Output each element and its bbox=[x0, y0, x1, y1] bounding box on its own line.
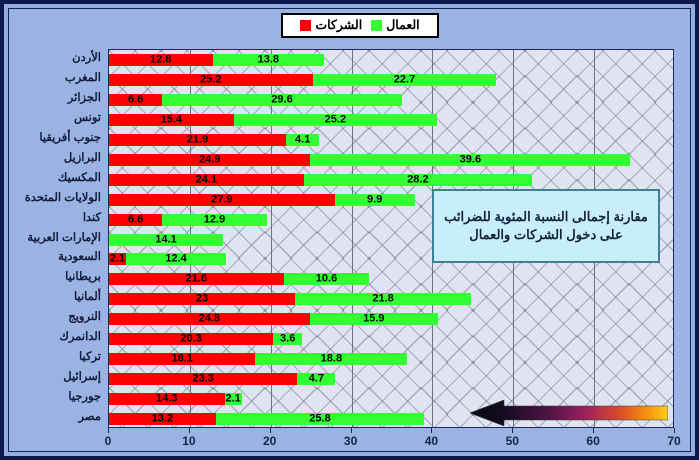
bar-row: 20.33.6 bbox=[109, 333, 673, 345]
category-label: المغرب bbox=[65, 73, 101, 85]
bar-row: 12.813.8 bbox=[109, 54, 673, 66]
x-axis-tick bbox=[351, 428, 352, 433]
category-label: الولايات المتحدة bbox=[25, 193, 101, 205]
bar-segment-workers[interactable] bbox=[273, 333, 302, 345]
category-label: تونس bbox=[74, 113, 101, 125]
legend-item-label: الشركات bbox=[315, 19, 362, 32]
category-label: السعودية bbox=[58, 252, 101, 264]
category-label: إسرائيل bbox=[63, 372, 101, 384]
bar-row: 24.939.6 bbox=[109, 154, 673, 166]
bar-segment-companies[interactable] bbox=[109, 94, 162, 106]
category-label: كندا bbox=[83, 213, 101, 225]
category-label: جورجيا bbox=[68, 392, 101, 404]
x-axis: 010203040506070 bbox=[108, 428, 674, 454]
category-label: النرويج bbox=[68, 312, 101, 324]
bar-segment-workers[interactable] bbox=[297, 373, 335, 385]
callout-textbox: مقارنة إجمالى النسبة المئوية للضرائب على… bbox=[432, 189, 660, 263]
bar-segment-companies[interactable] bbox=[109, 273, 284, 285]
category-label: ألمانيا bbox=[74, 292, 101, 304]
bar-segment-workers[interactable] bbox=[109, 234, 223, 246]
bar-segment-workers[interactable] bbox=[216, 413, 425, 425]
x-axis-tick bbox=[108, 428, 109, 433]
x-axis-tick bbox=[593, 428, 594, 433]
x-axis-tick-label: 60 bbox=[586, 435, 599, 447]
chart-frame: العمالالشركات الأردنالمغربالجزائرتونسجنو… bbox=[0, 0, 699, 460]
bar-segment-companies[interactable] bbox=[109, 293, 295, 305]
bar-segment-workers[interactable] bbox=[162, 94, 401, 106]
bar-row: 24.815.9 bbox=[109, 313, 673, 325]
bar-segment-workers[interactable] bbox=[213, 54, 325, 66]
x-axis-tick bbox=[512, 428, 513, 433]
x-axis-tick bbox=[270, 428, 271, 433]
bar-segment-companies[interactable] bbox=[109, 313, 310, 325]
category-axis-labels: الأردنالمغربالجزائرتونسجنوب أفريقياالبرا… bbox=[4, 49, 105, 428]
category-label: بريطانيا bbox=[65, 272, 101, 284]
category-label: الأردن bbox=[72, 53, 101, 65]
bar-segment-companies[interactable] bbox=[109, 134, 286, 146]
bar-segment-workers[interactable] bbox=[286, 134, 319, 146]
bar-row: 23.34.7 bbox=[109, 373, 673, 385]
x-axis-tick-label: 0 bbox=[105, 435, 112, 447]
bar-segment-workers[interactable] bbox=[313, 74, 497, 86]
legend-item[interactable]: العمال bbox=[371, 19, 419, 32]
category-label: البرازيل bbox=[64, 153, 101, 165]
bar-segment-companies[interactable] bbox=[109, 174, 304, 186]
bar-segment-workers[interactable] bbox=[126, 253, 226, 265]
companies-swatch bbox=[300, 20, 311, 31]
bar-segment-companies[interactable] bbox=[109, 333, 273, 345]
bar-row: 18.118.8 bbox=[109, 353, 673, 365]
category-label: الدانمرك bbox=[59, 332, 101, 344]
bar-segment-companies[interactable] bbox=[109, 393, 225, 405]
x-axis-tick-label: 10 bbox=[182, 435, 195, 447]
category-label: الإمارات العربية bbox=[27, 233, 101, 245]
x-axis-tick bbox=[431, 428, 432, 433]
x-axis-tick-label: 20 bbox=[263, 435, 276, 447]
bar-segment-workers[interactable] bbox=[225, 393, 242, 405]
bar-segment-workers[interactable] bbox=[310, 154, 630, 166]
bar-segment-workers[interactable] bbox=[310, 313, 439, 325]
category-label: الجزائر bbox=[68, 93, 101, 105]
x-axis-tick bbox=[189, 428, 190, 433]
bar-segment-workers[interactable] bbox=[304, 174, 532, 186]
x-axis-tick-label: 70 bbox=[667, 435, 680, 447]
bar-row: 2321.8 bbox=[109, 293, 673, 305]
category-label: تركيا bbox=[79, 352, 101, 364]
bar-segment-workers[interactable] bbox=[335, 194, 415, 206]
chart-legend: العمالالشركات bbox=[281, 13, 439, 38]
x-axis-tick bbox=[674, 428, 675, 433]
bar-segment-workers[interactable] bbox=[284, 273, 370, 285]
bar-row: 25.222.7 bbox=[109, 74, 673, 86]
x-axis-tick-label: 30 bbox=[344, 435, 357, 447]
bar-segment-workers[interactable] bbox=[295, 293, 471, 305]
x-axis-tick-label: 40 bbox=[425, 435, 438, 447]
bar-row: 15.425.2 bbox=[109, 114, 673, 126]
workers-swatch bbox=[371, 20, 382, 31]
bar-segment-companies[interactable] bbox=[109, 74, 313, 86]
bar-segment-companies[interactable] bbox=[109, 114, 234, 126]
bar-row: 21.94.1 bbox=[109, 134, 673, 146]
category-label: جنوب أفريقيا bbox=[39, 133, 101, 145]
bar-segment-companies[interactable] bbox=[109, 154, 310, 166]
bar-segment-companies[interactable] bbox=[109, 214, 162, 226]
bar-row: 21.610.6 bbox=[109, 273, 673, 285]
bar-row: 6.629.6 bbox=[109, 94, 673, 106]
bar-segment-workers[interactable] bbox=[255, 353, 407, 365]
bar-segment-companies[interactable] bbox=[109, 413, 216, 425]
bar-segment-companies[interactable] bbox=[109, 54, 213, 66]
x-axis-tick-label: 50 bbox=[506, 435, 519, 447]
category-label: المكسيك bbox=[58, 173, 101, 185]
callout-text: مقارنة إجمالى النسبة المئوية للضرائب على… bbox=[442, 208, 650, 243]
bar-segment-workers[interactable] bbox=[234, 114, 438, 126]
bar-row: 24.128.2 bbox=[109, 174, 673, 186]
bar-segment-companies[interactable] bbox=[109, 194, 335, 206]
legend-item-label: العمال bbox=[386, 19, 419, 32]
bar-segment-workers[interactable] bbox=[162, 214, 266, 226]
bar-segment-companies[interactable] bbox=[109, 253, 126, 265]
legend-item[interactable]: الشركات bbox=[300, 19, 362, 32]
gradient-arrow bbox=[470, 400, 668, 426]
category-label: مصر bbox=[79, 412, 101, 424]
bar-segment-companies[interactable] bbox=[109, 353, 255, 365]
bar-segment-companies[interactable] bbox=[109, 373, 297, 385]
